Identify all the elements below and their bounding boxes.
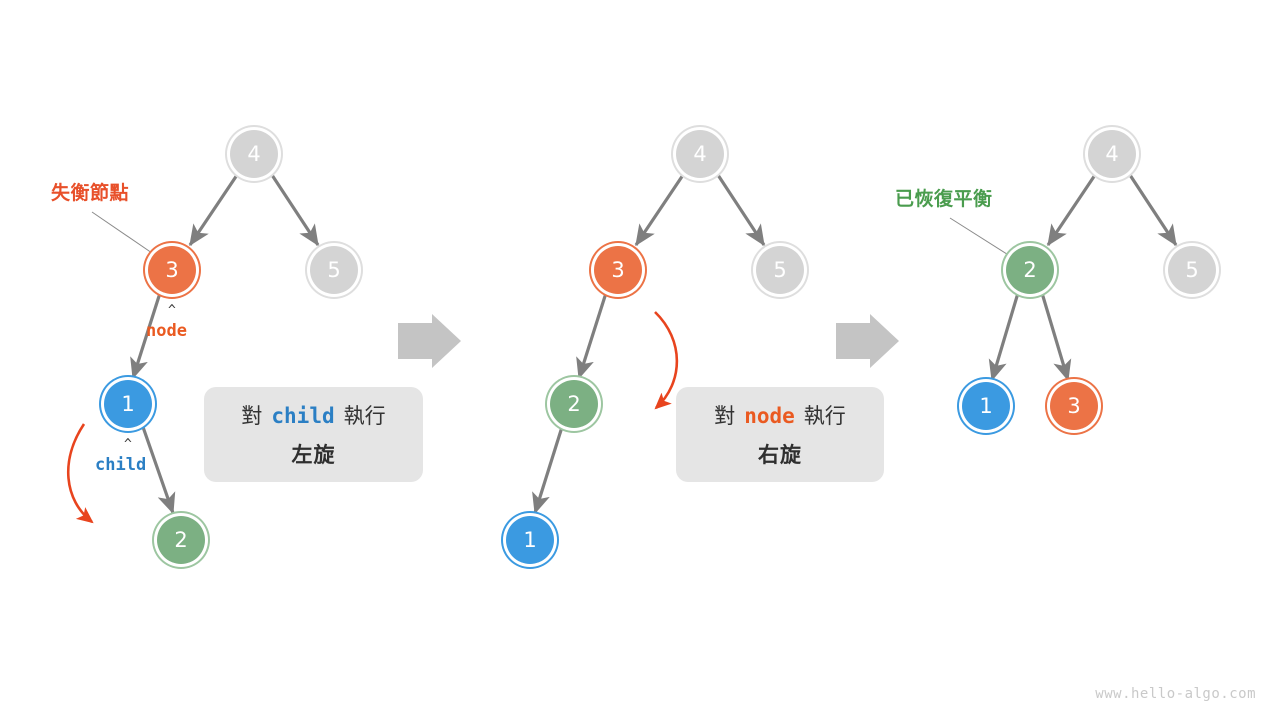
tree-node-5-middle[interactable]: 5 xyxy=(756,246,804,294)
edge-1-2 xyxy=(143,427,173,513)
tree-node-4-before[interactable]: 4 xyxy=(230,130,278,178)
tree-node-2-after[interactable]: 2 xyxy=(1006,246,1054,294)
tree-node-3-middle[interactable]: 3 xyxy=(594,246,642,294)
caption-left-rotate: 對 child 執行 左旋 xyxy=(204,387,423,482)
tree-node-5-before[interactable]: 5 xyxy=(310,246,358,294)
tree-node-1-middle[interactable]: 1 xyxy=(506,516,554,564)
caption-prefix: 對 xyxy=(714,400,735,430)
step-arrow-1 xyxy=(398,314,461,368)
tree-node-4-after[interactable]: 4 xyxy=(1088,130,1136,178)
edge-4-5-a xyxy=(1130,175,1176,245)
annotation-unbalanced-node: 失衡節點 xyxy=(51,178,129,205)
pointer-label-child: child xyxy=(95,455,146,475)
tree-node-1-before[interactable]: 1 xyxy=(104,380,152,428)
caption-prefix: 對 xyxy=(241,400,262,430)
step-arrow-2 xyxy=(836,314,899,368)
tree-node-2-middle[interactable]: 2 xyxy=(550,380,598,428)
rotation-arc-right xyxy=(655,312,677,408)
tree-node-1-after[interactable]: 1 xyxy=(962,382,1010,430)
caption-suffix: 執行 xyxy=(804,400,846,430)
caption-target-child: child xyxy=(271,404,334,428)
caption-left-rotate-line1: 對 child 執行 xyxy=(241,400,385,430)
edge-2-3-a xyxy=(1042,293,1068,380)
diagram-vector-layer xyxy=(0,0,1280,720)
edge-2-1-m xyxy=(535,427,562,513)
edge-3-2-m xyxy=(579,293,606,378)
edge-4-5 xyxy=(272,175,318,245)
edge-4-3-m xyxy=(636,175,683,245)
tree-node-5-after[interactable]: 5 xyxy=(1168,246,1216,294)
caption-right-rotate: 對 node 執行 右旋 xyxy=(676,387,884,482)
caption-right-rotate-operation: 右旋 xyxy=(758,439,802,469)
edge-2-1-a xyxy=(992,293,1018,380)
watermark: www.hello-algo.com xyxy=(1095,686,1256,702)
diagram-canvas: 4 3 5 1 2 失衡節點 ^ node ^ child 對 child 執行… xyxy=(0,0,1280,720)
leader-line-unbalanced xyxy=(92,212,152,253)
tree-node-3-after[interactable]: 3 xyxy=(1050,382,1098,430)
caption-target-node: node xyxy=(744,404,795,428)
annotation-balanced: 已恢復平衡 xyxy=(895,184,993,211)
edge-4-3 xyxy=(190,175,237,245)
caption-suffix: 執行 xyxy=(344,400,386,430)
caret-node-pointer: ^ xyxy=(168,303,176,318)
tree-node-4-middle[interactable]: 4 xyxy=(676,130,724,178)
tree-node-2-before[interactable]: 2 xyxy=(157,516,205,564)
caret-child-pointer: ^ xyxy=(124,437,132,452)
edge-4-5-m xyxy=(718,175,764,245)
caption-left-rotate-operation: 左旋 xyxy=(292,439,336,469)
leader-line-balanced xyxy=(950,218,1010,256)
tree-node-3-before[interactable]: 3 xyxy=(148,246,196,294)
caption-right-rotate-line1: 對 node 執行 xyxy=(714,400,846,430)
rotation-arc-left xyxy=(68,424,92,522)
pointer-label-node: node xyxy=(146,321,187,341)
edge-4-2-a xyxy=(1048,175,1095,245)
